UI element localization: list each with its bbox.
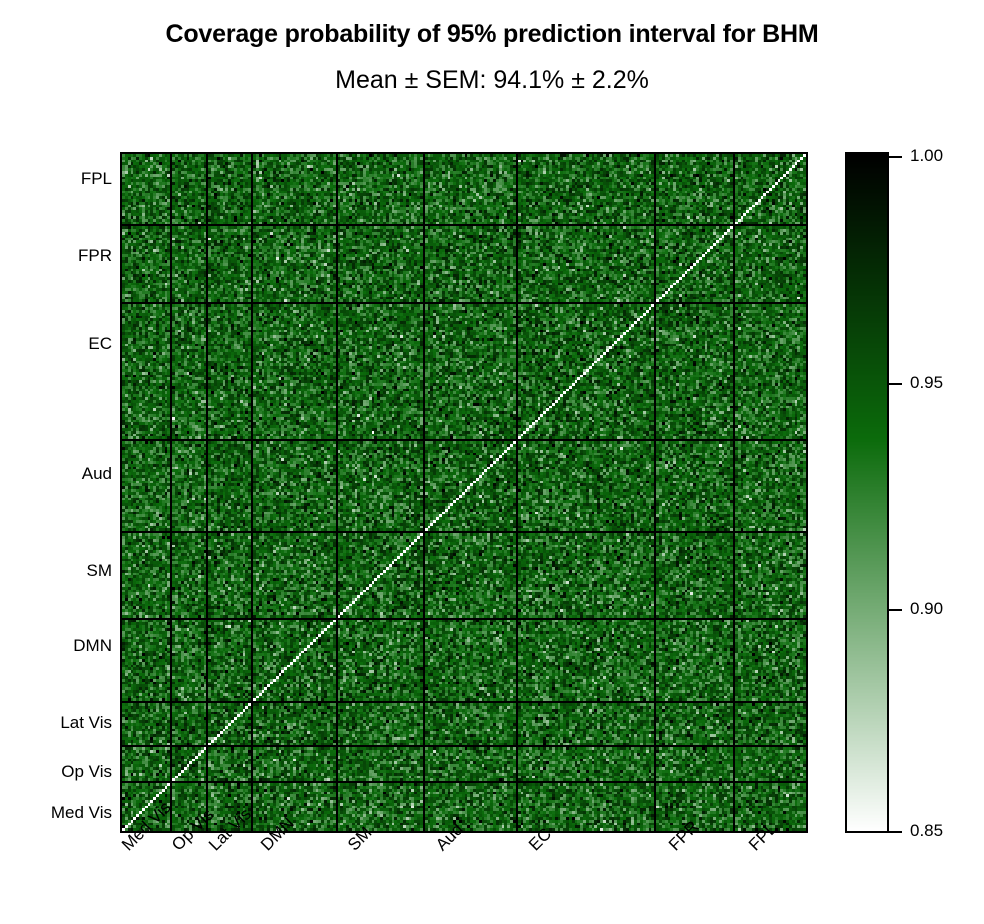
- colorbar-tick-label: 0.95: [910, 373, 943, 393]
- y-axis-label: Med Vis: [51, 803, 112, 823]
- y-axis-label: EC: [88, 334, 112, 354]
- chart-subtitle: Mean ± SEM: 94.1% ± 2.2%: [0, 66, 984, 95]
- colorbar-tick-label: 1.00: [910, 146, 943, 166]
- colorbar-tick-label: 0.85: [910, 821, 943, 841]
- y-axis-label: FPL: [81, 169, 112, 189]
- colorbar-tick-mark: [889, 156, 902, 158]
- colorbar-tick-mark: [889, 383, 902, 385]
- y-axis-label: Lat Vis: [60, 713, 112, 733]
- colorbar-tick-mark: [889, 831, 902, 833]
- heatmap-panel: [120, 152, 808, 833]
- colorbar-tick-label: 0.90: [910, 599, 943, 619]
- y-axis-label: Aud: [82, 464, 112, 484]
- y-axis-label: Op Vis: [61, 762, 112, 782]
- heatmap-matrix: [122, 154, 806, 831]
- colorbar: [845, 152, 889, 833]
- colorbar-gradient: [847, 154, 887, 831]
- y-axis-label: SM: [87, 561, 113, 581]
- y-axis-label: FPR: [78, 246, 112, 266]
- chart-title: Coverage probability of 95% prediction i…: [0, 20, 984, 49]
- y-axis-label: DMN: [73, 636, 112, 656]
- colorbar-tick-mark: [889, 609, 902, 611]
